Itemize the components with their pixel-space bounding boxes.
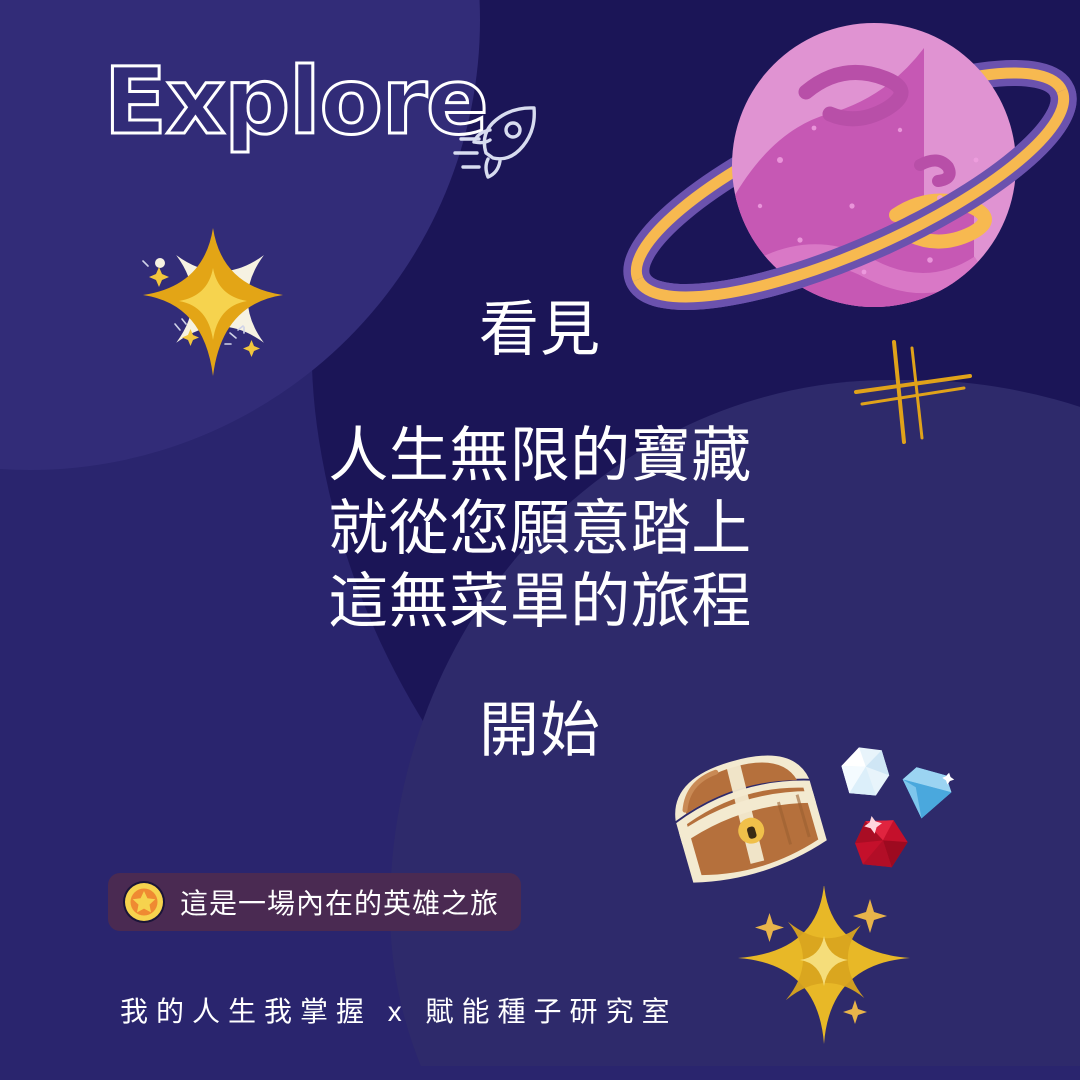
ruby-gem-icon bbox=[851, 811, 912, 873]
copy-body-line-2: 就從您願意踏上 bbox=[230, 492, 850, 565]
copy-body-line-1: 人生無限的寶藏 bbox=[230, 419, 850, 492]
status-badge: 這是一場內在的英雄之旅 bbox=[108, 873, 521, 931]
copy-body: 人生無限的寶藏 就從您願意踏上 這無菜單的旅程 bbox=[230, 419, 850, 639]
page-title: Explore bbox=[104, 56, 488, 148]
treasure-group bbox=[665, 745, 965, 900]
poster-canvas: Explore bbox=[0, 0, 1080, 1080]
treasure-chest-icon bbox=[665, 745, 830, 890]
sparkle-cross-icon bbox=[852, 338, 980, 450]
footer-credit: 我的人生我掌握 x 賦能種子研究室 bbox=[120, 990, 678, 1030]
star-coin-icon bbox=[122, 880, 166, 924]
main-copy: 看見 人生無限的寶藏 就從您願意踏上 這無菜單的旅程 開始 bbox=[230, 298, 850, 762]
status-badge-label: 這是一場內在的英雄之旅 bbox=[180, 882, 499, 922]
sparkle-star-icon bbox=[726, 886, 956, 1076]
diamond-gem-icon bbox=[898, 766, 955, 823]
copy-body-line-3: 這無菜單的旅程 bbox=[230, 565, 850, 638]
rocket-icon bbox=[443, 103, 547, 183]
copy-tail: 開始 bbox=[230, 699, 850, 762]
copy-lead: 看見 bbox=[230, 298, 850, 361]
